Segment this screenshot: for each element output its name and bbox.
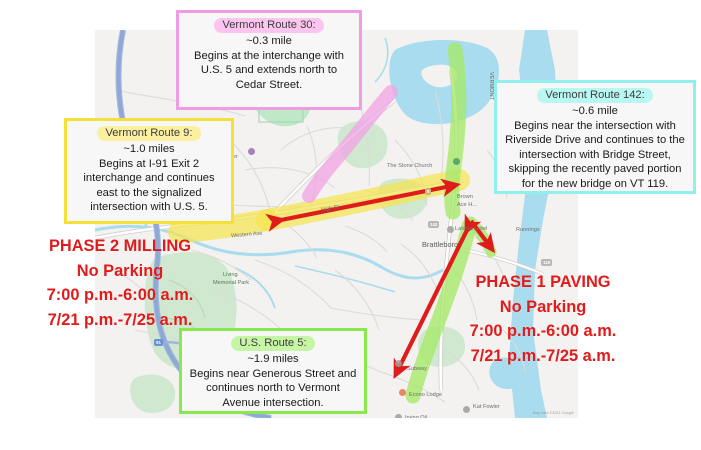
map-label-econo-lodge: Econo Lodge <box>409 392 442 398</box>
phase-1-dates: 7/21 p.m.-7/25 a.m. <box>425 344 661 369</box>
map-label-irving-oil: Irving Oil <box>405 415 427 418</box>
callout-route-142-title: Vermont Route 142: <box>537 88 653 103</box>
callout-route-5: U.S. Route 5: ~1.9 miles Begins near Gen… <box>179 328 367 414</box>
kat-fowler-marker[interactable] <box>463 406 470 413</box>
callout-route-9-distance: ~1.0 miles <box>74 142 224 157</box>
callout-route-30-title: Vermont Route 30: <box>214 18 323 33</box>
callout-route-30: Vermont Route 30: ~0.3 mile Begins at th… <box>176 10 362 110</box>
shield-us-5: 5 <box>425 188 431 195</box>
irving-oil-marker[interactable] <box>395 414 402 418</box>
callout-route-142: Vermont Route 142: ~0.6 mile Begins near… <box>494 80 696 194</box>
map-label-the-stone-church: The Stone Church <box>387 163 432 169</box>
phase-1-title: PHASE 1 PAVING <box>425 270 661 295</box>
callout-route-9-title: Vermont Route 9: <box>97 126 200 141</box>
map-label-brattleboro: Brattleboro <box>422 240 458 249</box>
callout-route-5-title: U.S. Route 5: <box>231 336 314 351</box>
callout-route-5-description: Begins near Generous Street and continue… <box>189 367 357 411</box>
phase-1-parking: No Parking <box>425 295 661 320</box>
subway-marker[interactable] <box>395 360 402 367</box>
latchis-hotel-marker[interactable] <box>447 226 454 233</box>
phase-2-parking: No Parking <box>6 259 234 284</box>
shield-vt-142: 142 <box>428 221 439 228</box>
phase-2-title: PHASE 2 MILLING <box>6 234 234 259</box>
map-attribution: Map data ©2021 Google <box>533 411 574 415</box>
shield-i-91: 91 <box>154 339 163 346</box>
map-label-subway: Subway <box>407 366 427 372</box>
map-label-brown-ace-hardware: Brown <box>457 194 473 200</box>
callout-route-30-distance: ~0.3 mile <box>186 34 352 49</box>
callout-route-9: Vermont Route 9: ~1.0 miles Begins at I-… <box>64 118 234 224</box>
shield-vt-119: 119 <box>541 259 552 266</box>
callout-route-142-distance: ~0.6 mile <box>504 104 686 119</box>
phase-2-milling-notice: PHASE 2 MILLING No Parking 7:00 p.m.-6:0… <box>6 234 234 332</box>
map-label-brown-ace-hardware-2: Ace H... <box>457 202 477 208</box>
econo-lodge-marker[interactable] <box>399 389 406 396</box>
map-label-runnings: Runnings <box>516 227 540 233</box>
callout-route-142-description: Begins near the intersection with Rivers… <box>504 119 686 192</box>
callout-route-9-description: Begins at I-91 Exit 2 interchange and co… <box>74 157 224 215</box>
phase-1-hours: 7:00 p.m.-6:00 a.m. <box>425 319 661 344</box>
phase-1-paving-notice: PHASE 1 PAVING No Parking 7:00 p.m.-6:00… <box>425 270 661 368</box>
map-label-latchis-hotel: Latchis Hotel <box>455 226 487 232</box>
map-label-kat-fowler: Kat Fowler <box>473 404 500 410</box>
retreat-tower-marker[interactable] <box>248 148 255 155</box>
phase-2-hours: 7:00 p.m.-6:00 a.m. <box>6 283 234 308</box>
screenshot-canvas: Retreat Tower The Stone Church Brown Ace… <box>0 0 701 450</box>
callout-route-5-distance: ~1.9 miles <box>189 352 357 367</box>
phase-2-dates: 7/21 p.m.-7/25 a.m. <box>6 308 234 333</box>
callout-route-30-description: Begins at the interchange with U.S. 5 an… <box>186 49 352 93</box>
stone-church-marker[interactable] <box>453 158 460 165</box>
